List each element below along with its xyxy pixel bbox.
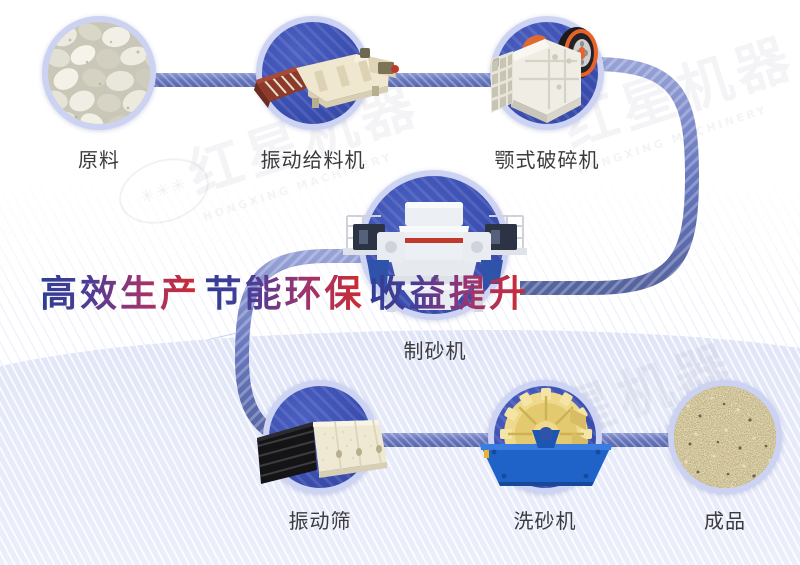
sand-washer-icon: [474, 386, 624, 490]
raw-material-label: 原料: [40, 144, 158, 173]
slogan-energy-saving: 节能环保: [204, 275, 364, 312]
sand-washer-label: 洗砂机: [483, 505, 607, 534]
slogan-block: 高效生产 节能环保 收益提升: [40, 275, 529, 342]
finished-product-circle[interactable]: [668, 380, 782, 494]
slogan-profit-increase: 收益提升: [369, 275, 529, 312]
flow-diagram-canvas: 红星机器 HONGXING MACHINERY 红星机器 HONGXING MA…: [0, 0, 800, 565]
vibrating-feeder-icon: [252, 42, 400, 116]
vibrating-feeder-label: 振动给料机: [251, 144, 375, 173]
finished-product-label: 成品: [666, 505, 784, 534]
raw-material-circle[interactable]: [42, 16, 156, 130]
finished-sand-photo-icon: [674, 386, 776, 488]
vibrating-screen-label: 振动筛: [258, 505, 382, 534]
jaw-crusher-label: 颚式破碎机: [485, 144, 609, 173]
pebbles-photo-icon: [48, 22, 150, 124]
vibrating-screen-icon: [255, 414, 403, 486]
slogan-efficient-production: 高效生产: [40, 275, 200, 312]
jaw-crusher-icon: [489, 23, 619, 131]
